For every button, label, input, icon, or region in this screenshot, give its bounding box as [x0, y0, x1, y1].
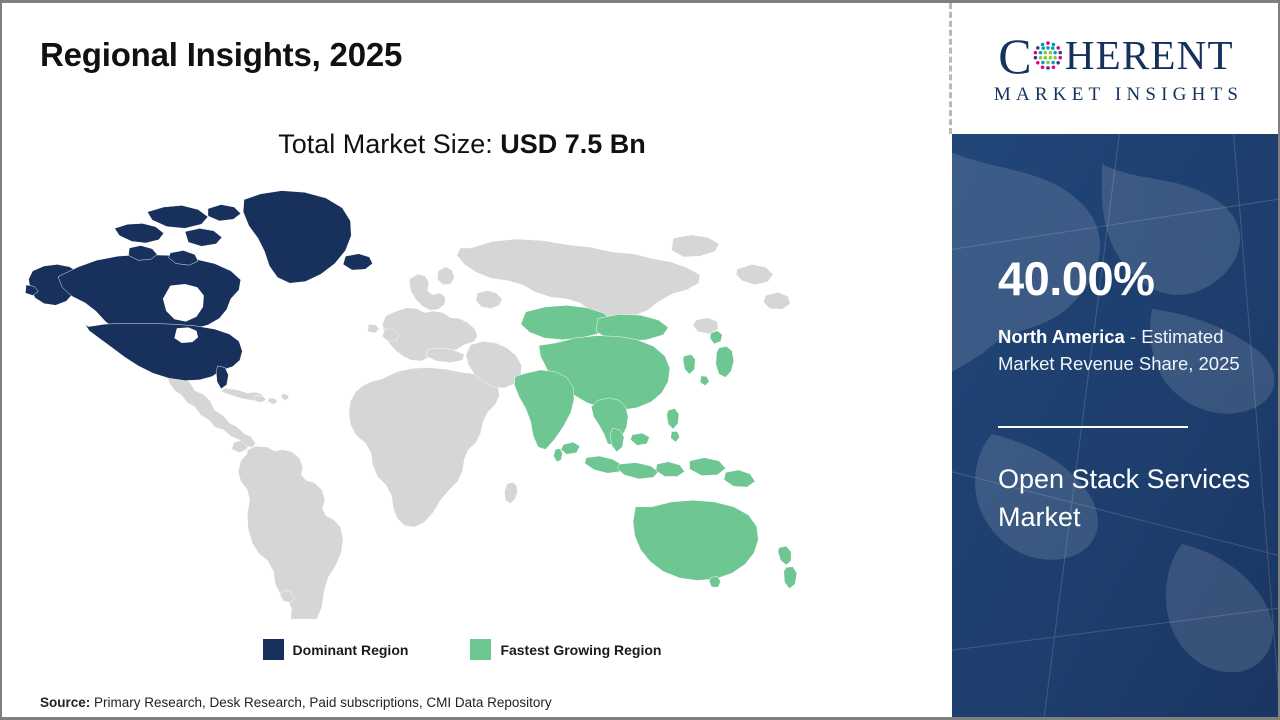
logo-wordmark: C [966, 34, 1266, 78]
legend-label-fastest-growing: Fastest Growing Region [500, 642, 661, 658]
legend-swatch-dominant-icon [263, 639, 284, 660]
coherent-market-insights-logo: C [966, 34, 1266, 104]
left-content-panel: Regional Insights, 2025 Total Market Siz… [2, 3, 950, 717]
map-region-central-america [167, 374, 289, 448]
slide-root: Regional Insights, 2025 Total Market Siz… [0, 0, 1280, 720]
legend-label-dominant: Dominant Region [293, 642, 409, 658]
market-size-value: USD 7.5 Bn [500, 129, 646, 159]
world-map [24, 189, 844, 619]
stat-panel: 40.00% North America - Estimated Market … [952, 134, 1280, 717]
market-size-label: Total Market Size: [278, 129, 500, 159]
dotted-globe-icon [1031, 39, 1065, 73]
map-region-south-america [232, 440, 343, 619]
stat-description: North America - Estimated Market Revenue… [998, 324, 1266, 378]
brand-logo-area: C [952, 3, 1280, 134]
map-region-asia-pacific-growing [514, 305, 797, 588]
total-market-size: Total Market Size: USD 7.5 Bn [2, 129, 922, 160]
legend-item-fastest-growing: Fastest Growing Region [470, 639, 661, 660]
stat-percent-value: 40.00% [998, 255, 1154, 302]
map-region-north-america-dominant [25, 191, 372, 389]
legend-swatch-growing-icon [470, 639, 491, 660]
source-label: Source: [40, 695, 90, 710]
stat-panel-content: 40.00% North America - Estimated Market … [998, 134, 1266, 717]
market-name: Open Stack Services Market [998, 460, 1266, 537]
stat-divider [998, 426, 1188, 428]
legend-item-dominant: Dominant Region [263, 639, 409, 660]
world-map-svg [24, 189, 844, 619]
source-text: Primary Research, Desk Research, Paid su… [90, 695, 551, 710]
map-legend: Dominant Region Fastest Growing Region [2, 639, 922, 660]
logo-tagline: MARKET INSIGHTS [966, 85, 1266, 104]
source-note: Source: Primary Research, Desk Research,… [40, 695, 552, 710]
page-title: Regional Insights, 2025 [40, 36, 402, 74]
logo-letter-c: C [998, 34, 1033, 78]
stat-region-name: North America [998, 326, 1125, 347]
logo-letters-herent: HERENT [1065, 35, 1234, 76]
